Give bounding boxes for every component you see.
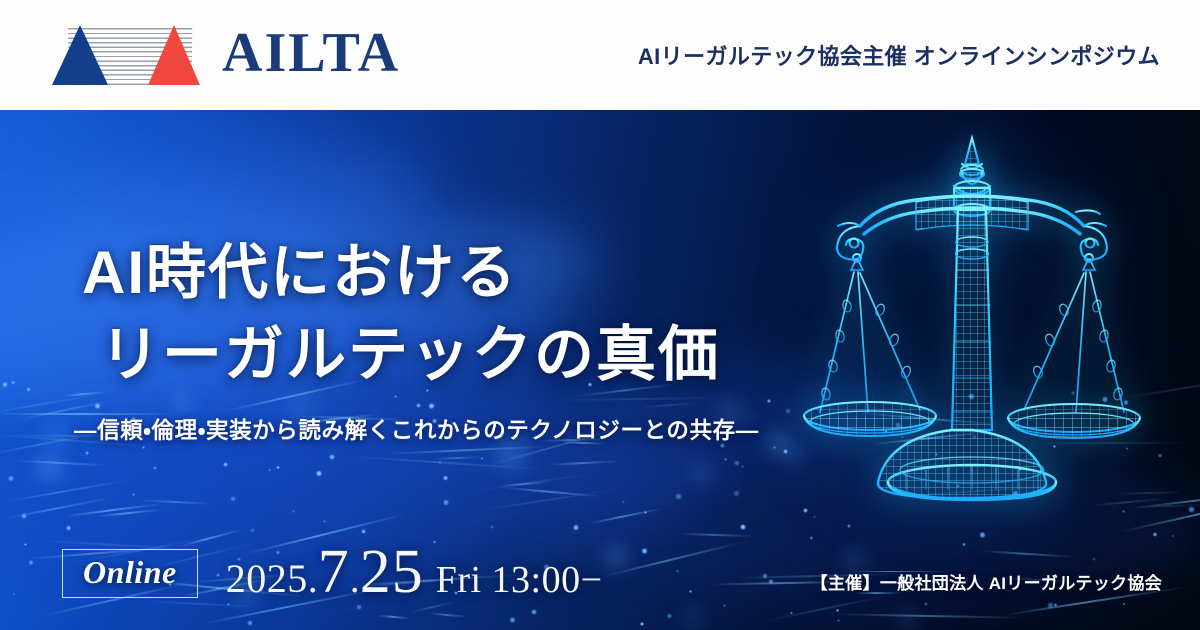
circuit-dot (481, 457, 484, 460)
header-tagline: AIリーガルテック協会主催 オンラインシンポジウム (638, 39, 1160, 71)
circuit-streak (378, 614, 410, 618)
hero-subtitle: ―信頼・倫理・実装から読み解くこれからのテクノロジーとの共存― (74, 413, 759, 445)
date-day: 25 (360, 545, 424, 601)
circuit-streak (5, 496, 113, 518)
circuit-streak (835, 613, 1027, 618)
date-year: 2025 (226, 555, 308, 602)
circuit-dot (153, 466, 157, 470)
circuit-streak (95, 509, 163, 517)
circuit-dot (26, 387, 31, 392)
circuit-dot (724, 458, 727, 461)
date-separator: . (350, 555, 360, 602)
circuit-streak (476, 488, 617, 511)
circuit-dot (361, 529, 366, 534)
hero-title-line-1: AI時代における (82, 232, 759, 314)
event-banner: AILTA AIリーガルテック協会主催 オンラインシンポジウム (0, 0, 1200, 630)
circuit-dot (1158, 453, 1162, 457)
circuit-dot (1172, 535, 1175, 538)
circuit-streak (680, 532, 753, 536)
circuit-dot (640, 622, 644, 626)
bokeh-light (685, 457, 717, 489)
brand-wordmark: AILTA (222, 25, 400, 85)
circuit-dot (531, 609, 537, 615)
circuit-streak (981, 550, 1075, 557)
online-badge: Online (62, 549, 198, 598)
circuit-dot (837, 619, 840, 622)
bokeh-light (39, 417, 74, 452)
circuit-dot (11, 380, 16, 385)
circuit-dot (740, 524, 746, 530)
circuit-dot (962, 543, 966, 547)
circuit-dot (230, 496, 236, 502)
circuit-dot (329, 454, 335, 460)
bokeh-light (600, 540, 632, 572)
circuit-dot (676, 570, 678, 572)
circuit-dot (433, 540, 437, 544)
circuit-dot (741, 465, 744, 468)
circuit-dot (734, 460, 740, 466)
circuit-dot (223, 462, 228, 467)
logo-blue-triangle-icon (52, 25, 108, 85)
scales-of-justice-icon (802, 130, 1142, 530)
circuit-dot (142, 446, 145, 449)
circuit-dot (723, 604, 726, 607)
bokeh-light (30, 448, 70, 488)
circuit-dot (438, 461, 441, 464)
circuit-dot (675, 493, 682, 500)
circuit-dot (227, 603, 230, 606)
circuit-streak (2, 479, 131, 503)
circuit-dot (2, 381, 8, 387)
bokeh-light (895, 608, 918, 630)
logo-red-triangle-icon (148, 25, 200, 85)
circuit-dot (1188, 506, 1195, 513)
circuit-streak (15, 460, 108, 466)
brand-lockup[interactable]: AILTA (50, 25, 400, 85)
circuit-streak (433, 456, 483, 459)
bokeh-light (763, 428, 795, 460)
circuit-dot (667, 613, 673, 619)
circuit-streak (477, 473, 592, 491)
circuit-streak (140, 500, 214, 505)
circuit-dot (132, 493, 135, 496)
host-organization: 【主催】一般社団法人 AIリーガルテック協会 (811, 569, 1162, 594)
circuit-dot (622, 501, 624, 503)
circuit-dot (66, 525, 72, 531)
circuit-dot (689, 590, 692, 593)
circuit-dot (733, 490, 740, 497)
date-time: Fri 13:00− (436, 558, 603, 602)
circuit-dot (8, 475, 14, 481)
circuit-dot (443, 475, 449, 481)
event-details-row: Online 2025 . 7 . 25 Fri 13:00− (62, 545, 603, 602)
circuit-dot (644, 511, 647, 514)
circuit-streak (429, 612, 467, 617)
circuit-dot (316, 470, 323, 477)
circuit-dot (292, 510, 295, 513)
circuit-dot (24, 543, 27, 546)
circuit-dot (490, 525, 494, 529)
circuit-dot (85, 451, 89, 455)
circuit-streak (63, 503, 163, 517)
circuit-streak (603, 541, 746, 577)
circuit-dot (783, 449, 788, 454)
circuit-dot (276, 466, 279, 469)
circuit-dot (773, 446, 776, 449)
circuit-streak (500, 481, 550, 486)
circuit-dot (268, 469, 271, 472)
circuit-dot (1092, 557, 1096, 561)
page-header: AILTA AIリーガルテック協会主催 オンラインシンポジウム (0, 0, 1200, 110)
circuit-dot (768, 579, 774, 585)
circuit-streak (549, 460, 620, 465)
circuit-streak (178, 528, 242, 547)
date-separator: . (308, 555, 318, 602)
title-block: AI時代における リーガルテックの真価 ―信頼・倫理・実装から読み解くこれからの… (82, 232, 759, 445)
circuit-dot (28, 560, 34, 566)
circuit-dot (13, 593, 15, 595)
circuit-dot (323, 520, 326, 523)
circuit-dot (1153, 532, 1157, 536)
circuit-dot (641, 548, 647, 554)
event-datetime: 2025 . 7 . 25 Fri 13:00− (226, 545, 603, 602)
circuit-streak (1132, 503, 1200, 507)
circuit-dot (924, 602, 928, 606)
hero-section: AI時代における リーガルテックの真価 ―信頼・倫理・実装から読み解くこれからの… (0, 110, 1200, 630)
circuit-dot (573, 524, 579, 530)
circuit-dot (509, 617, 516, 624)
circuit-dot (1123, 603, 1125, 605)
circuit-dot (790, 612, 792, 614)
circuit-streak (390, 446, 552, 455)
ailta-logo-icon (50, 25, 202, 85)
circuit-streak (1132, 491, 1200, 509)
circuit-dot (767, 399, 771, 403)
circuit-dot (836, 609, 839, 612)
bokeh-light (681, 604, 706, 629)
circuit-dot (250, 528, 255, 533)
circuit-dot (1054, 603, 1058, 607)
date-month: 7 (318, 545, 350, 601)
circuit-dot (21, 513, 27, 519)
circuit-dot (979, 532, 986, 539)
circuit-streak (354, 455, 543, 469)
circuit-dot (762, 573, 768, 579)
circuit-dot (810, 536, 813, 539)
circuit-streak (588, 508, 664, 525)
circuit-streak (503, 486, 600, 496)
circuit-dot (785, 408, 792, 415)
circuit-dot (247, 620, 253, 626)
circuit-dot (1047, 602, 1054, 609)
circuit-streak (765, 595, 890, 622)
circuit-dot (443, 499, 450, 506)
hero-title-line-2: リーガルテックの真価 (100, 314, 759, 396)
